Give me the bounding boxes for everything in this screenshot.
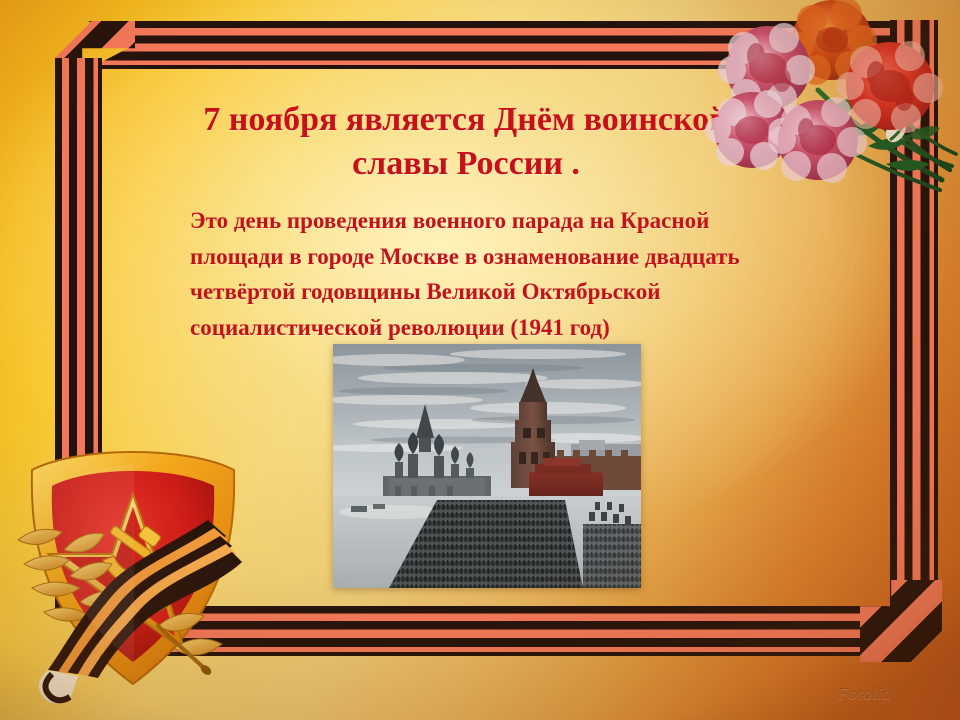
slide-headline: 7 ноября является Днём воинской славы Ро… <box>186 98 746 185</box>
soviet-guards-badge <box>8 412 258 712</box>
parade-photograph-illustration <box>333 344 641 588</box>
presentation-slide: 7 ноября является Днём воинской славы Ро… <box>0 0 960 720</box>
red-carnations-bouquet <box>700 0 960 206</box>
body-line-2: площади в городе Москве в ознаменование … <box>190 239 840 275</box>
georgievskaya-ribbon-corner-bottom-right <box>860 580 942 662</box>
stock-photo-watermark: Fotolia <box>838 684 892 704</box>
georgievskaya-ribbon-top-band <box>88 21 748 69</box>
body-line-3: четвёртой годовщины Великой Октябрьской <box>190 274 840 310</box>
body-line-1: Это день проведения военного парада на К… <box>190 203 840 239</box>
slide-body-text: Это день проведения военного парада на К… <box>190 203 840 346</box>
headline-line-1: 7 ноября является Днём <box>203 101 575 138</box>
parade-photograph <box>333 344 641 588</box>
body-line-4: социалистической революции (1941 год) <box>190 310 840 346</box>
